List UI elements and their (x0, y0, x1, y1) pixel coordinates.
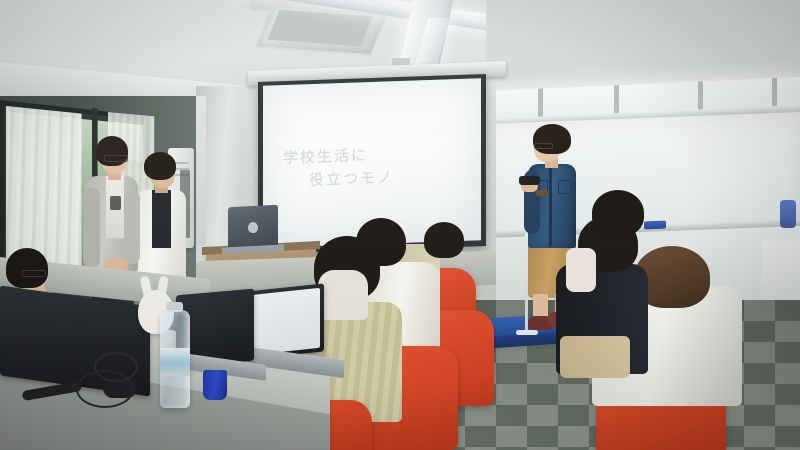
slide-title-line-2: 役立つモノ (283, 164, 473, 194)
slide-title: 学校生活に 役立つモノ (283, 140, 473, 193)
student-tshirt (152, 190, 171, 248)
bottle-label (160, 348, 190, 376)
eyeglasses-icon (104, 155, 128, 162)
ceiling-air-vent-inner (267, 10, 372, 47)
whiteboard-eraser (644, 221, 666, 230)
microphone-stand-base (516, 330, 538, 335)
seated-person-hair (6, 248, 48, 288)
audience-hair (592, 190, 644, 236)
shirt-pocket (558, 180, 572, 194)
slide-title-line-1: 学校生活に (283, 146, 368, 167)
wristwatch (536, 190, 548, 196)
audience-trousers (560, 336, 630, 378)
student-hair (144, 152, 176, 180)
presentation-remote (519, 176, 540, 185)
audience-collar (566, 248, 596, 292)
student-arm (83, 188, 100, 268)
shirt-placket (549, 164, 552, 246)
eyeglasses-icon (534, 143, 553, 149)
cable (94, 352, 138, 382)
classroom-presentation-photo: 学校生活に 役立つモノ · · · · · · · · · · (0, 0, 800, 450)
audience-hair (424, 222, 464, 258)
student-arm (124, 190, 140, 264)
blue-wall-object (780, 200, 796, 228)
apple-logo-icon (248, 222, 258, 233)
eyeglasses-icon (22, 270, 46, 277)
tshirt-print (110, 196, 121, 210)
presenter-hair (533, 124, 571, 154)
blue-plastic-cup (203, 370, 227, 400)
audience-shoulder (318, 270, 368, 320)
